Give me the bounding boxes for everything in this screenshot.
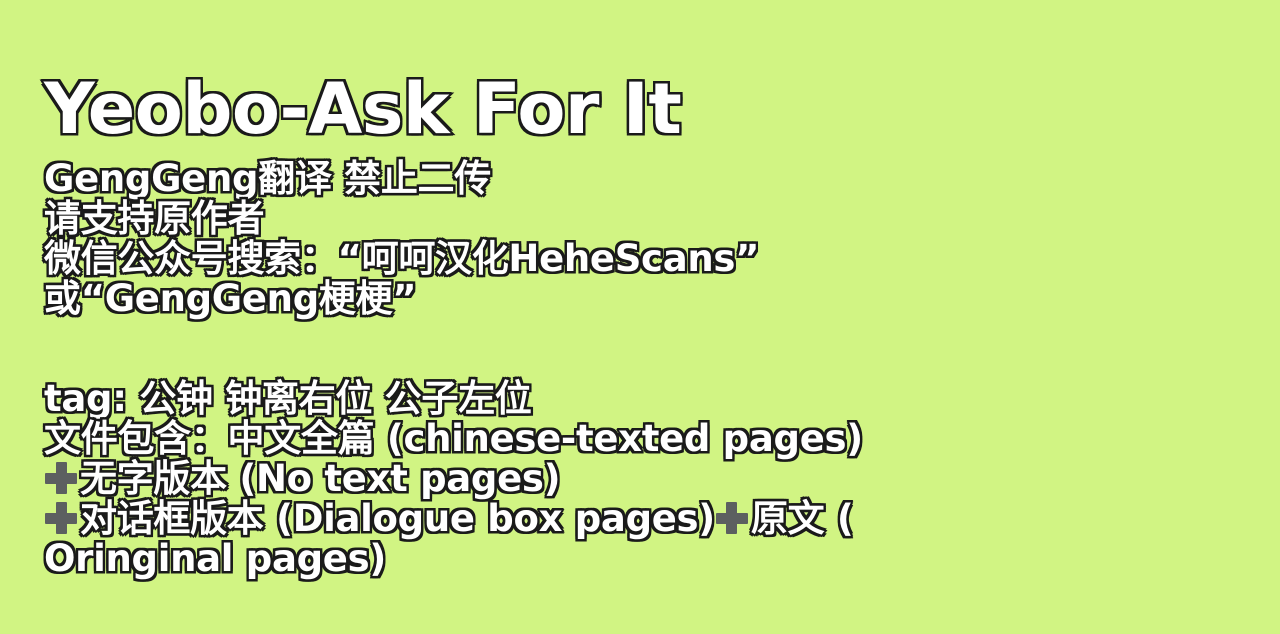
plus-icon [44, 461, 78, 495]
no-text-version-line: 无字版本 (No text pages) [44, 460, 560, 497]
plus-icon [44, 501, 78, 535]
translator-credit-line: GengGeng翻译 禁止二传 [44, 160, 491, 197]
credits-page: Yeobo-Ask For It GengGeng翻译 禁止二传 请支持原作者 … [0, 0, 1280, 634]
original-version-label-head: 原文 ( [751, 497, 854, 540]
support-original-author-line: 请支持原作者 [44, 200, 264, 237]
file-contains-line: 文件包含：中文全篇 (chinese-texted pages) [44, 420, 863, 457]
no-text-version-label: 无字版本 (No text pages) [80, 457, 560, 500]
plus-icon [715, 501, 749, 535]
alternate-account-line: 或“GengGeng梗梗” [44, 280, 416, 317]
original-version-line-continued: Oringinal pages) [44, 540, 386, 577]
tag-line: tag: 公钟 钟离右位 公子左位 [44, 380, 531, 417]
dialogue-box-version-label: 对话框版本 (Dialogue box pages) [80, 497, 715, 540]
wechat-search-line: 微信公众号搜索：“呵呵汉化HeheScans” [44, 240, 759, 277]
page-title: Yeobo-Ask For It [44, 74, 681, 144]
dialogue-box-version-line: 对话框版本 (Dialogue box pages)原文 ( [44, 500, 853, 537]
